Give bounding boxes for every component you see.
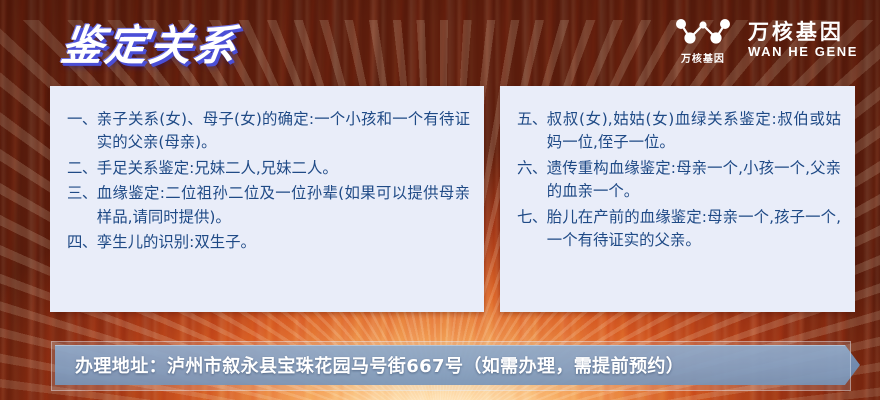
list-item-number: 三、 [67, 182, 97, 205]
list-item: 六、 遗传重构血缘鉴定:母亲一个,小孩一个,父亲的血亲一个。 [517, 157, 841, 204]
list-item: 二、 手足关系鉴定:兄妹二人,兄妹二人。 [67, 157, 470, 180]
list-item-text: 胎儿在产前的血缘鉴定:母亲一个,孩子一个,一个有待证实的父亲。 [547, 206, 841, 253]
list-item-number: 五、 [517, 108, 547, 131]
list-item-text: 血缘鉴定:二位祖孙二位及一位孙辈(如果可以提供母亲样品,请同时提供)。 [97, 182, 470, 229]
brand-logo: 万核基因 [672, 16, 734, 65]
list-item: 七、 胎儿在产前的血缘鉴定:母亲一个,孩子一个,一个有待证实的父亲。 [517, 206, 841, 253]
list-item-text: 手足关系鉴定:兄妹二人,兄妹二人。 [97, 157, 470, 180]
list-item-text: 叔叔(女),姑姑(女)血绿关系鉴定:叔伯或姑妈一位,侄子一位。 [547, 108, 841, 155]
info-panel-left-body: 一、 亲子关系(女)、母子(女)的确定:一个小孩和一个有待证实的父亲(母亲)。 … [50, 86, 484, 266]
info-panel-left: 一、 亲子关系(女)、母子(女)的确定:一个小孩和一个有待证实的父亲(母亲)。 … [50, 86, 484, 312]
list-item-number: 四、 [67, 231, 97, 254]
list-item-number: 一、 [67, 108, 97, 131]
address-text: 办理地址：泸州市叙永县宝珠花园马号街667号（如需办理，需提前预约） [75, 345, 684, 385]
info-panel-right-body: 五、 叔叔(女),姑姑(女)血绿关系鉴定:叔伯或姑妈一位,侄子一位。 六、 遗传… [500, 86, 855, 264]
list-item-text: 亲子关系(女)、母子(女)的确定:一个小孩和一个有待证实的父亲(母亲)。 [97, 108, 470, 155]
molecule-nodes-icon [672, 16, 734, 48]
brand-logo-caption: 万核基因 [681, 50, 725, 65]
list-item-text: 孪生儿的识别:双生子。 [97, 231, 470, 254]
page-title: 鉴定关系 [58, 12, 243, 73]
brand-name-cn: 万核基因 [748, 22, 844, 44]
address-banner: 办理地址：泸州市叙永县宝珠花园马号街667号（如需办理，需提前预约） [55, 345, 860, 385]
list-item-number: 七、 [517, 206, 547, 229]
list-item: 五、 叔叔(女),姑姑(女)血绿关系鉴定:叔伯或姑妈一位,侄子一位。 [517, 108, 841, 155]
list-item-number: 六、 [517, 157, 547, 180]
poster-canvas: 鉴定关系 [0, 0, 880, 400]
brand-name-en: WAN HE GENE [748, 45, 858, 59]
list-item: 三、 血缘鉴定:二位祖孙二位及一位孙辈(如果可以提供母亲样品,请同时提供)。 [67, 182, 470, 229]
brand-name-block: 万核基因 WAN HE GENE [748, 22, 858, 59]
list-item-text: 遗传重构血缘鉴定:母亲一个,小孩一个,父亲的血亲一个。 [547, 157, 841, 204]
info-panel-right: 五、 叔叔(女),姑姑(女)血绿关系鉴定:叔伯或姑妈一位,侄子一位。 六、 遗传… [500, 86, 855, 312]
list-item-number: 二、 [67, 157, 97, 180]
brand-lockup: 万核基因 万核基因 WAN HE GENE [672, 16, 858, 65]
list-item: 四、 孪生儿的识别:双生子。 [67, 231, 470, 254]
list-item: 一、 亲子关系(女)、母子(女)的确定:一个小孩和一个有待证实的父亲(母亲)。 [67, 108, 470, 155]
